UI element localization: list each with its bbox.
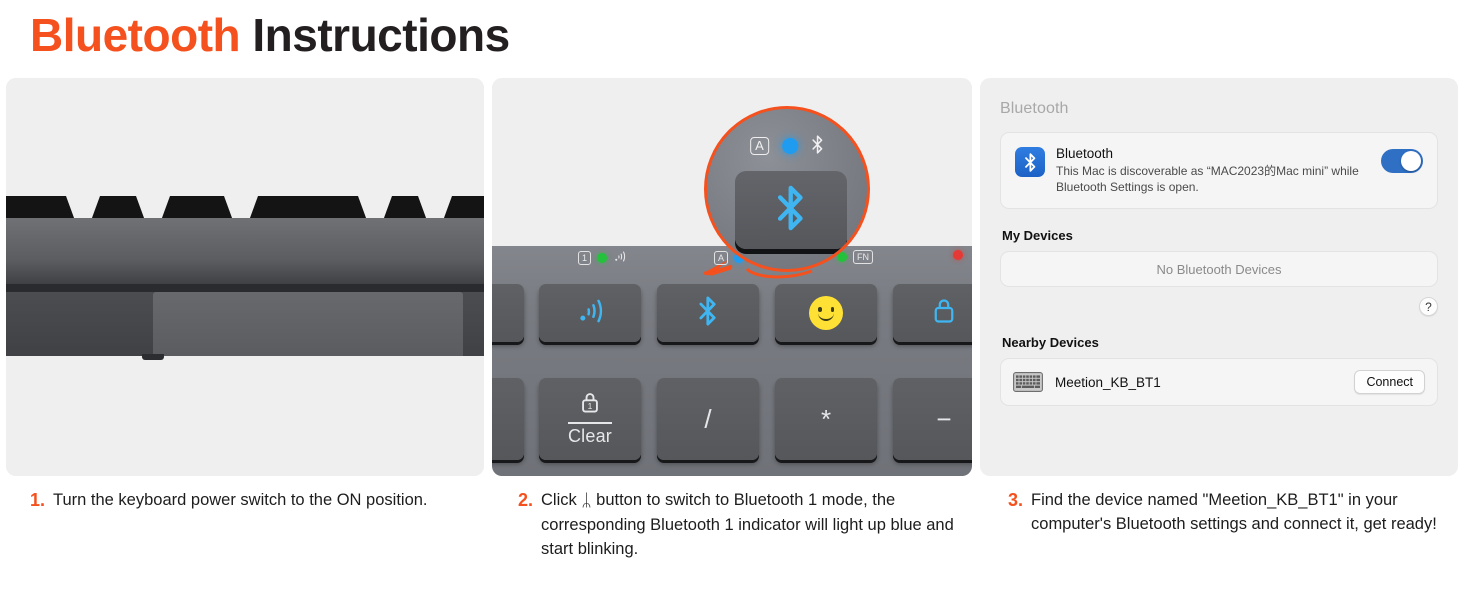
step-1-caption: 1. Turn the keyboard power switch to the… [30, 488, 450, 512]
step-number: 1. [30, 488, 45, 512]
led-red-indicator [953, 250, 963, 260]
bluetooth-toggle-knob[interactable] [1401, 151, 1421, 171]
key-bluetooth[interactable] [657, 284, 759, 342]
device-name: Meetion_KB_BT1 [1055, 375, 1342, 390]
step-number: 3. [1008, 488, 1023, 536]
indicator-box-label: FN [853, 250, 873, 264]
bluetooth-icon: ᛦ [581, 491, 591, 510]
page-title-rest: Instructions [240, 9, 510, 61]
step-text: Click ᛦ button to switch to Bluetooth 1 … [541, 488, 988, 561]
key-slash-label: / [704, 404, 711, 435]
key-asterisk[interactable]: * [775, 378, 877, 460]
bluetooth-toggle-row: Bluetooth This Mac is discoverable as “M… [1001, 133, 1437, 208]
step-text-before: Click [541, 491, 581, 509]
key-slash[interactable]: / [657, 378, 759, 460]
key-lock[interactable] [893, 284, 972, 342]
bluetooth-description: This Mac is discoverable as “MAC2023的Mac… [1056, 163, 1370, 195]
step-2-image-panel: 1 A FN [492, 78, 972, 476]
lock-icon [932, 297, 956, 330]
help-icon[interactable]: ? [1419, 297, 1438, 316]
keyboard-side-body [6, 218, 484, 288]
indicator-box-label: A [714, 251, 728, 265]
key-numlock-clear[interactable]: 1 Clear [539, 378, 641, 460]
svg-text:1: 1 [588, 401, 593, 411]
bluetooth-toggle[interactable] [1381, 149, 1423, 173]
keyboard-function-row-illustration: 1 A FN [492, 78, 972, 476]
wireless-icon [576, 297, 604, 330]
key-minus-label: − [936, 404, 951, 435]
key-divider [568, 422, 612, 424]
my-devices-card: No Bluetooth Devices [1000, 251, 1438, 287]
magnifier-callout: A [704, 106, 870, 272]
help-row: ? [1000, 297, 1438, 316]
numlock-icon: 1 [579, 391, 601, 420]
indicator-group-battery [953, 250, 963, 260]
key-smiley[interactable] [775, 284, 877, 342]
indicator-box-label: 1 [578, 251, 591, 265]
settings-window-title: Bluetooth [1000, 100, 1438, 118]
step-number: 2. [518, 488, 533, 561]
macos-bluetooth-settings: Bluetooth Bluetooth This Mac is discover… [980, 78, 1458, 476]
key-wireless[interactable] [539, 284, 641, 342]
connect-button[interactable]: Connect [1354, 370, 1425, 394]
callout-indicator-group: A [750, 135, 824, 157]
my-devices-empty-text: No Bluetooth Devices [1001, 252, 1437, 286]
keyboard-rear-plate: ON OFF [153, 292, 463, 356]
key-numlock-label: Clear [568, 426, 612, 447]
nearby-devices-heading: Nearby Devices [1002, 335, 1438, 350]
step-3-caption: 3. Find the device named "Meetion_KB_BT1… [1008, 488, 1458, 536]
key-partial-left[interactable] [492, 284, 524, 342]
step-text: Turn the keyboard power switch to the ON… [53, 488, 450, 512]
wireless-icon [613, 250, 626, 265]
page-title: Bluetooth Instructions [30, 8, 510, 62]
smiley-icon [809, 296, 843, 330]
step-1-image-panel: ON OFF [6, 78, 484, 476]
bluetooth-icon [1015, 147, 1045, 177]
list-item[interactable]: Meetion_KB_BT1 Connect [1001, 359, 1437, 405]
step-text: Find the device named "Meetion_KB_BT1" i… [1031, 488, 1458, 536]
callout-mode-box: A [750, 137, 769, 155]
step-text-after: button to switch to Bluetooth 1 mode, th… [541, 491, 954, 558]
page-title-accent: Bluetooth [30, 9, 240, 61]
callout-key-bluetooth[interactable] [735, 171, 847, 249]
keyboard-icon [1013, 372, 1043, 392]
step-2-caption: 2. Click ᛦ button to switch to Bluetooth… [518, 488, 988, 561]
indicator-group-fn: FN [837, 250, 873, 264]
bluetooth-icon [774, 185, 808, 236]
led-blue-indicator [782, 138, 798, 154]
keyboard-foot [142, 354, 164, 360]
key-minus[interactable]: − [893, 378, 972, 460]
bluetooth-label: Bluetooth [1056, 146, 1370, 161]
keyboard-indicator-row: 1 A FN [492, 250, 972, 272]
bluetooth-icon [811, 135, 824, 157]
key-asterisk-label: * [821, 404, 831, 435]
indicator-group-wireless: 1 [578, 250, 626, 265]
bluetooth-status-card: Bluetooth This Mac is discoverable as “M… [1000, 132, 1438, 209]
key-partial-left-bottom[interactable] [492, 378, 524, 460]
bluetooth-icon [697, 296, 719, 331]
my-devices-heading: My Devices [1002, 228, 1438, 243]
keyboard-edge-illustration: ON OFF [6, 78, 484, 476]
nearby-devices-card: Meetion_KB_BT1 Connect [1000, 358, 1438, 406]
step-3-image-panel: Bluetooth Bluetooth This Mac is discover… [980, 78, 1458, 476]
led-green-indicator [597, 253, 607, 263]
